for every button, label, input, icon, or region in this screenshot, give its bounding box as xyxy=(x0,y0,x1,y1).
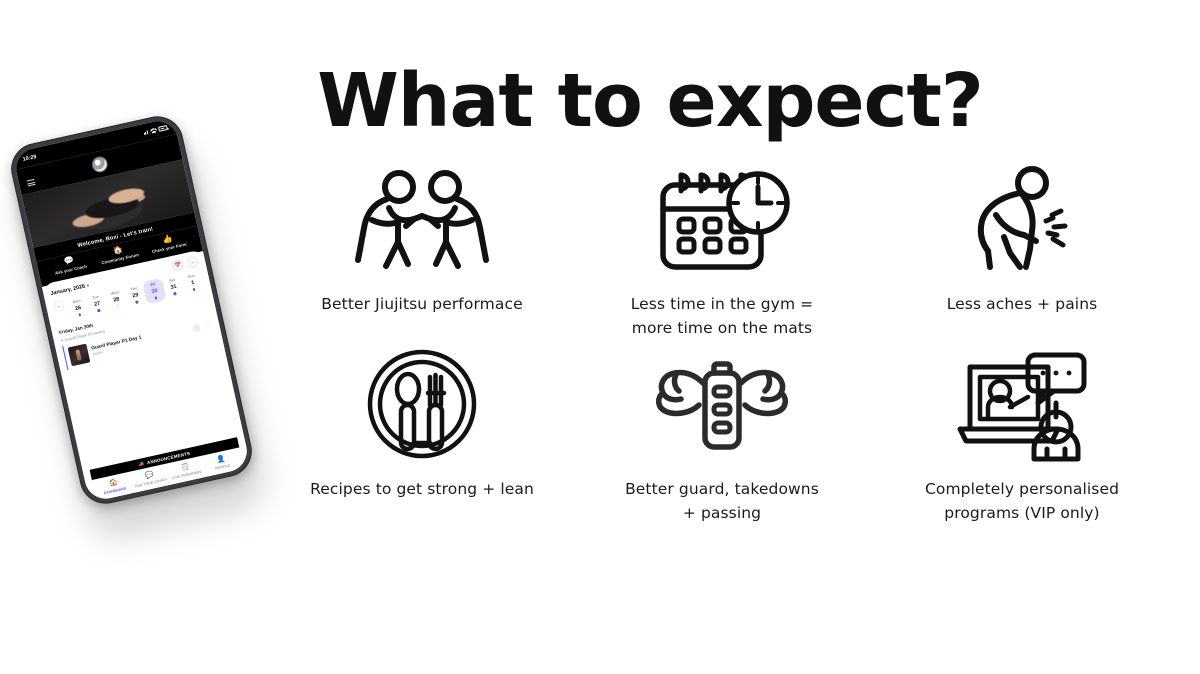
nav-item-profile[interactable]: 👤 PROFILE xyxy=(202,452,241,472)
nav-item-live-programs[interactable]: 🗒 LIVE PROGRAMS xyxy=(167,460,206,480)
avatar-icon xyxy=(192,324,202,334)
calendar-day-marker xyxy=(135,301,138,304)
feature-caption: Less aches + pains xyxy=(947,292,1098,316)
phone-screen: 10:29 xyxy=(12,117,251,502)
feature-caption: Less time in the gym = more time on the … xyxy=(631,292,814,340)
chat-coach-icon: 💬 xyxy=(63,256,74,266)
feature-item-jiujitsu-performance: Better Jiujitsu performace xyxy=(272,160,572,345)
feature-item-personalised-programs: Completely personalised programs (VIP on… xyxy=(872,345,1172,545)
plate-cutlery-icon xyxy=(363,345,481,463)
calendar-day-completed-check-icon: ✓ xyxy=(116,305,120,308)
feature-caption: Better Jiujitsu performace xyxy=(321,292,522,316)
calendar-back-button[interactable]: ← xyxy=(52,300,65,313)
programs-icon: 🗒 xyxy=(180,463,190,472)
calendar-clock-icon xyxy=(647,160,797,278)
app-logo-icon xyxy=(91,156,108,173)
home-icon: 🏠 xyxy=(108,479,118,488)
calendar-day-name: Thu xyxy=(130,285,138,291)
feature-item-recipes: Recipes to get strong + lean xyxy=(272,345,572,545)
calendar-day-date: 29 xyxy=(132,292,139,299)
calendar-day-date: 31 xyxy=(170,283,177,290)
calendar-day-name: Fri xyxy=(150,281,156,287)
nav-item-ask-your-coach[interactable]: 💬 ASK YOUR COACH xyxy=(131,468,170,488)
laptop-coaching-icon xyxy=(948,345,1096,463)
calendar-day-name: Tue xyxy=(92,294,100,300)
calendar-day-date: 30 xyxy=(151,288,158,295)
calendar-day-date: 27 xyxy=(94,300,101,307)
calendar-day-marker xyxy=(78,313,81,316)
feature-grid: Better Jiujitsu performace xyxy=(272,160,1172,545)
phone-device: 10:29 xyxy=(6,111,257,508)
calendar-day-name: Sat xyxy=(169,277,176,283)
community-icon: 🏠 xyxy=(113,245,124,255)
nav-label: LIVE PROGRAMS xyxy=(172,469,202,479)
phone-mockup: 10:29 xyxy=(18,118,288,538)
slide-root: What to expect? 10:29 xyxy=(0,0,1200,674)
feature-caption: Completely personalised programs (VIP on… xyxy=(925,477,1119,525)
nav-item-dashboard[interactable]: 🏠 DASHBOARD xyxy=(95,476,134,496)
feature-caption: Recipes to get strong + lean xyxy=(310,477,534,501)
calendar-day-marker xyxy=(155,296,158,299)
calendar-day-marker xyxy=(97,309,100,312)
battery-icon xyxy=(158,125,168,131)
status-time: 10:29 xyxy=(22,154,37,163)
wifi-icon xyxy=(150,127,157,133)
profile-icon: 👤 xyxy=(216,455,226,464)
calendar-day-marker xyxy=(193,288,196,291)
feature-caption: Better guard, takedowns + passing xyxy=(625,477,819,525)
thumbs-up-icon: 👍 xyxy=(162,235,173,245)
back-pain-figure-icon xyxy=(960,160,1085,278)
nav-label: DASHBOARD xyxy=(103,486,126,495)
quick-action-label: Ask your Coach xyxy=(55,264,88,276)
hamburger-menu-icon[interactable] xyxy=(27,179,36,188)
battery-biceps-icon xyxy=(647,345,797,463)
phone-bezel: 10:29 xyxy=(6,111,257,508)
grappling-pair-icon xyxy=(342,160,502,278)
feature-item-less-gym-time: Less time in the gym = more time on the … xyxy=(572,160,872,345)
filter-icon: ▾ xyxy=(60,337,63,342)
calendar-day-marker xyxy=(174,292,177,295)
more-options-icon[interactable]: ⋯ xyxy=(204,322,211,329)
session-thumbnail xyxy=(68,343,91,366)
megaphone-icon: 📣 xyxy=(138,461,145,468)
calendar-day-sun[interactable]: Sun 1 xyxy=(181,269,205,295)
chat-icon: 💬 xyxy=(144,471,154,480)
feature-item-less-aches: Less aches + pains xyxy=(872,160,1172,345)
cellular-signal-icon xyxy=(143,129,148,135)
calendar-day-date: 26 xyxy=(75,305,82,312)
calendar-day-name: Sun xyxy=(187,273,195,279)
feature-item-better-guard: Better guard, takedowns + passing xyxy=(572,345,872,545)
quick-action-label: Check your Form xyxy=(152,242,187,255)
calendar-day-date: 1 xyxy=(191,280,195,287)
chevron-down-icon: ▾ xyxy=(86,283,89,288)
